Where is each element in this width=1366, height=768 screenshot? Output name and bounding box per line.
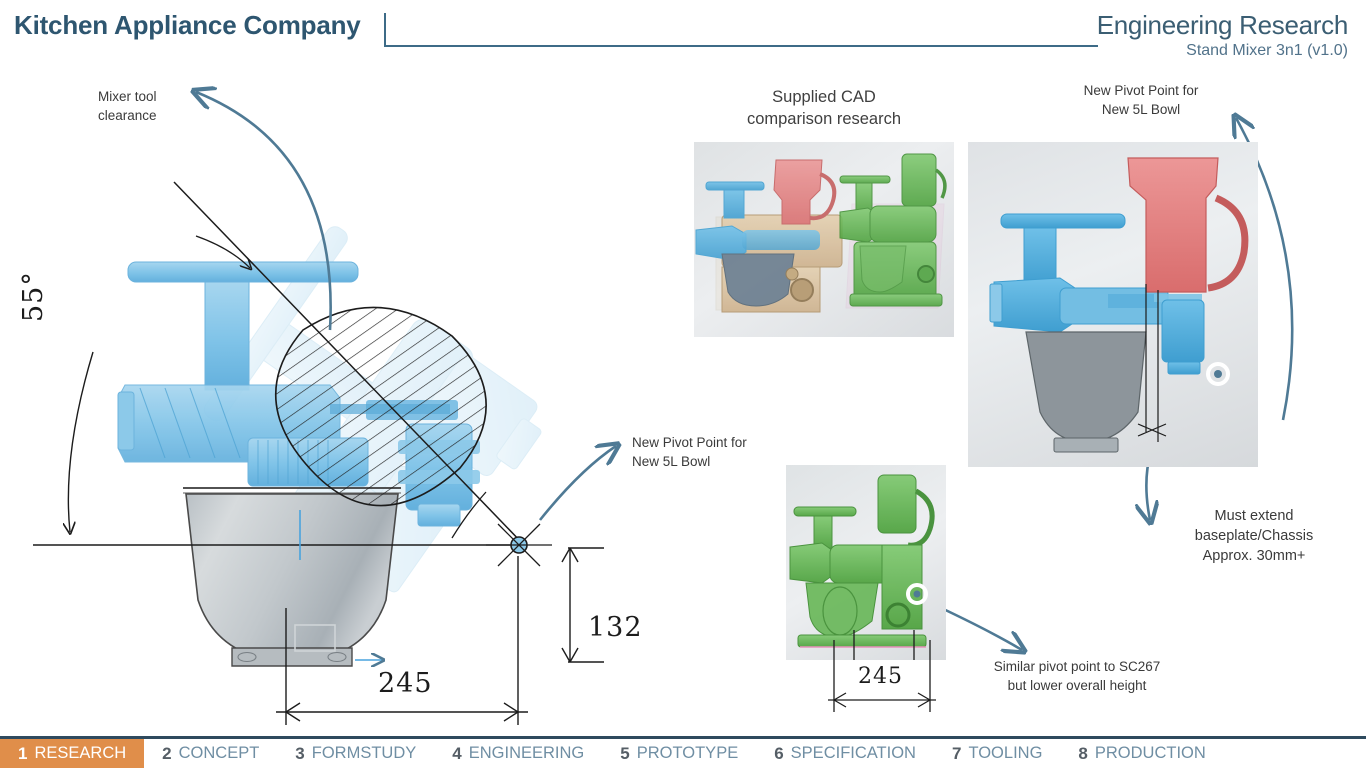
nav-label: ENGINEERING (469, 744, 585, 763)
nav-number: 8 (1078, 744, 1087, 764)
nav-item-research[interactable]: 1 RESEARCH (0, 739, 144, 768)
nav-item-specification[interactable]: 6 SPECIFICATION (756, 739, 934, 768)
dimension-lines-main (276, 548, 604, 725)
nav-label: RESEARCH (34, 744, 126, 763)
nav-label: PROTOTYPE (637, 744, 738, 763)
header-right: Engineering Research Stand Mixer 3n1 (v1… (1097, 10, 1348, 60)
angle-construction-lines (33, 182, 525, 546)
nav-item-engineering[interactable]: 4 ENGINEERING (434, 739, 602, 768)
nav-number: 1 (18, 744, 27, 764)
nav-number: 2 (162, 744, 171, 764)
cad-panel-green-reference[interactable] (786, 465, 946, 660)
nav-label: CONCEPT (179, 744, 260, 763)
arrow-pivot-left (540, 446, 616, 520)
header-rule (384, 45, 1098, 47)
nav-item-production[interactable]: 8 PRODUCTION (1060, 739, 1223, 768)
angle-dimension-label: 55° (18, 271, 49, 322)
cad-model-green (790, 475, 932, 647)
caption-supplied-cad: Supplied CAD comparison research (694, 86, 954, 131)
green-width-dimension-label: 245 (858, 664, 903, 689)
nav-label: PRODUCTION (1095, 744, 1206, 763)
arrow-mixer-tool-clearance (196, 92, 331, 330)
note-mixer-tool-clearance: Mixer tool clearance (98, 88, 157, 125)
tool-clearance-zone (276, 307, 486, 505)
nav-number: 7 (952, 744, 961, 764)
nav-label: SPECIFICATION (791, 744, 916, 763)
nav-number: 6 (774, 744, 783, 764)
nav-number: 5 (620, 744, 629, 764)
ghost-mixer-head (115, 223, 571, 701)
company-title: Kitchen Appliance Company (14, 10, 361, 41)
width-dimension-label: 245 (378, 668, 433, 699)
nav-item-concept[interactable]: 2 CONCEPT (144, 739, 277, 768)
cad-panel-new-pivot[interactable] (968, 142, 1258, 467)
mixer-assembly-blue (118, 262, 480, 526)
cad-model-blue-red (990, 158, 1245, 452)
nav-item-formstudy[interactable]: 3 FORMSTUDY (277, 739, 434, 768)
nav-item-prototype[interactable]: 5 PROTOTYPE (602, 739, 756, 768)
nav-label: TOOLING (968, 744, 1042, 763)
cad-model-left (696, 160, 842, 312)
nav-number: 3 (295, 744, 304, 764)
note-pivot-point-right: New Pivot Point for New 5L Bowl (1046, 82, 1236, 119)
stage-navigation[interactable]: 1 RESEARCH 2 CONCEPT 3 FORMSTUDY 4 ENGIN… (0, 736, 1366, 768)
header-divider-vertical (384, 13, 386, 47)
slide-root: Kitchen Appliance Company Engineering Re… (0, 0, 1366, 768)
page-title: Engineering Research (1097, 10, 1348, 41)
note-pivot-point-left: New Pivot Point for New 5L Bowl (632, 434, 747, 471)
pivot-point-marker (486, 524, 552, 566)
axis-indicator (300, 510, 382, 660)
note-similar-pivot-sc267: Similar pivot point to SC267 but lower o… (966, 658, 1188, 695)
cad-model-right (840, 154, 945, 308)
nav-label: FORMSTUDY (312, 744, 417, 763)
cad-panel-comparison[interactable] (694, 142, 954, 337)
height-dimension-label: 132 (588, 612, 643, 643)
mixing-bowl (183, 488, 401, 666)
pivot-highlight-marker (1208, 364, 1228, 384)
page-subtitle: Stand Mixer 3n1 (v1.0) (1097, 42, 1348, 60)
note-must-extend-baseplate: Must extend baseplate/Chassis Approx. 30… (1164, 506, 1344, 566)
nav-number: 4 (452, 744, 461, 764)
nav-item-tooling[interactable]: 7 TOOLING (934, 739, 1060, 768)
